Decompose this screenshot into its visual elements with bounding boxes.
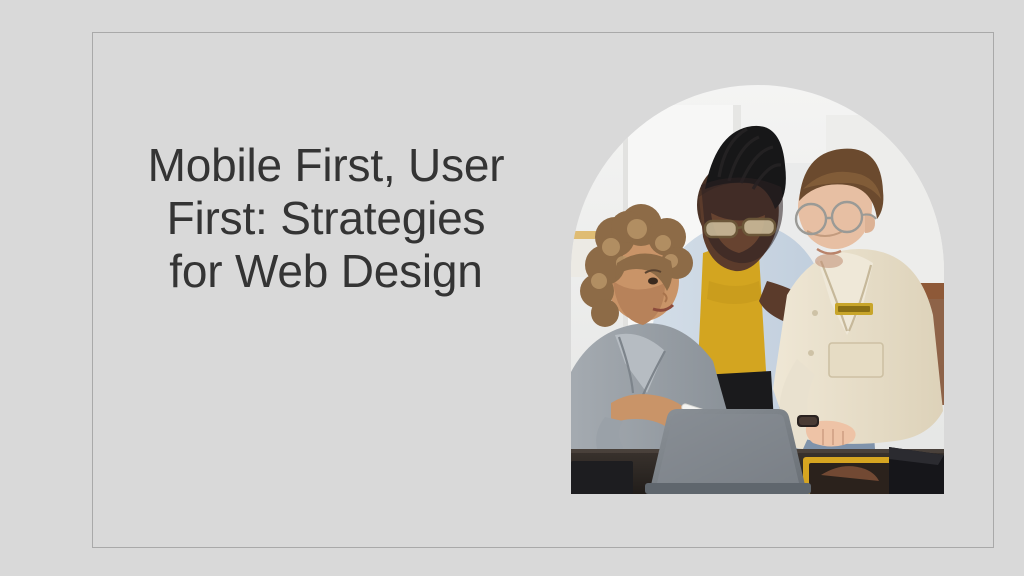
title-line-3: for Web Design (121, 245, 531, 298)
title-line-1: Mobile First, User (121, 139, 531, 192)
team-photo (571, 85, 944, 494)
slide-canvas: Mobile First, User First: Strategies for… (0, 0, 1024, 576)
title-line-2: First: Strategies (121, 192, 531, 245)
laptop (645, 409, 811, 494)
page-title: Mobile First, User First: Strategies for… (121, 139, 531, 298)
team-photo-illustration (571, 85, 944, 494)
slide-frame: Mobile First, User First: Strategies for… (92, 32, 994, 548)
